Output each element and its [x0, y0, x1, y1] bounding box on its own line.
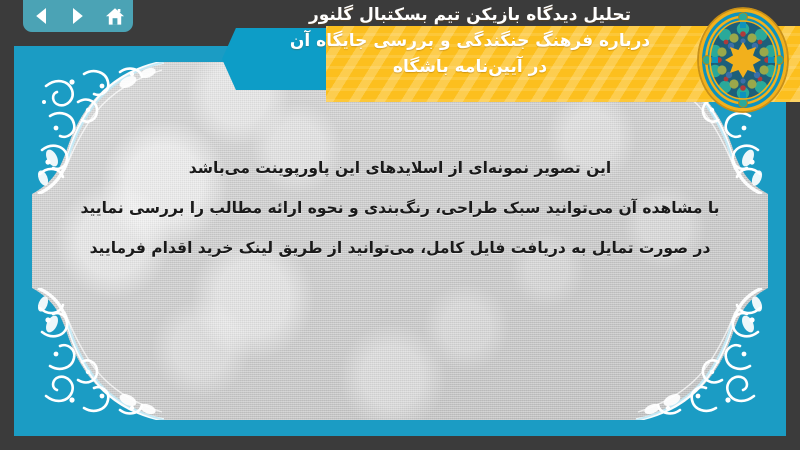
slide-canvas: این تصویر نمونه‌ای از اسلایدهای این پاور…	[14, 46, 786, 436]
title-line-1: تحلیل دیدگاه بازیکن تیم بسکتبال گلنور	[222, 2, 718, 28]
slide-viewer: این تصویر نمونه‌ای از اسلایدهای این پاور…	[0, 0, 800, 450]
triangle-left-icon	[33, 7, 49, 25]
previous-slide-button[interactable]	[27, 3, 55, 29]
slide-body-text: این تصویر نمونه‌ای از اسلایدهای این پاور…	[72, 148, 728, 268]
home-icon	[105, 7, 125, 26]
body-line-3: در صورت تمایل به دریافت فایل کامل، می‌تو…	[72, 228, 728, 268]
arabesque-corner-ornament-bottom-right	[636, 288, 768, 420]
slide-content-plate: این تصویر نمونه‌ای از اسلایدهای این پاور…	[32, 62, 768, 420]
body-line-2: با مشاهده آن می‌توانید سبک طراحی، رنگ‌بن…	[72, 188, 728, 228]
title-line-3: در آیین‌نامه باشگاه	[222, 54, 718, 80]
body-line-1: این تصویر نمونه‌ای از اسلایدهای این پاور…	[72, 148, 728, 188]
title-line-2: درباره فرهنگ جنگندگی و بررسی جایگاه آن	[222, 28, 718, 54]
persian-mandala-medallion	[694, 4, 792, 116]
next-slide-button[interactable]	[64, 3, 92, 29]
arabesque-corner-ornament-bottom-left	[32, 288, 164, 420]
triangle-right-icon	[70, 7, 86, 25]
slide-title: تحلیل دیدگاه بازیکن تیم بسکتبال گلنور در…	[222, 2, 718, 80]
slide-navigation-bar	[23, 0, 133, 32]
home-button[interactable]	[101, 3, 129, 29]
